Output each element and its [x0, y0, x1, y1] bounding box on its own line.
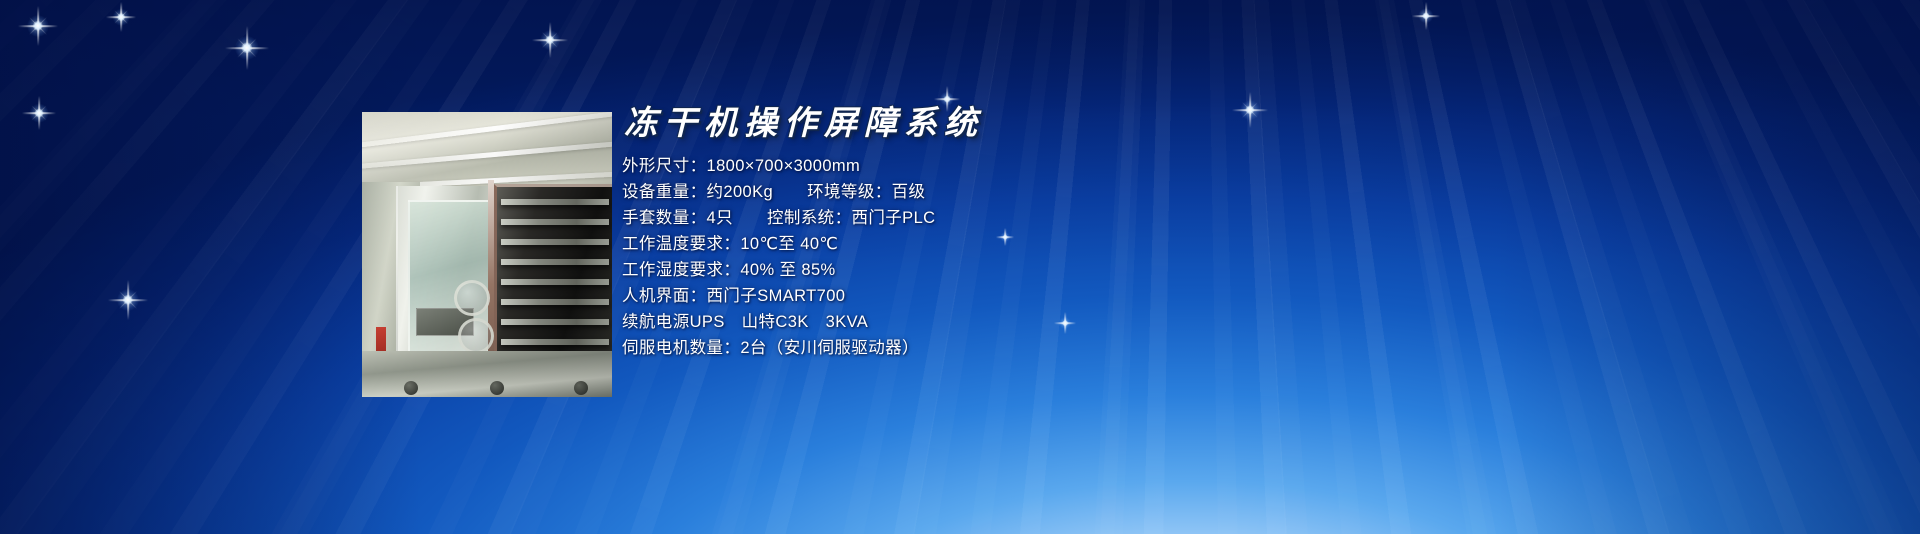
photo-shelf — [501, 299, 609, 305]
spec-row-dimensions: 外形尺寸：1800×700×3000mm — [622, 153, 1242, 179]
spec-value: 约200Kg — [707, 183, 774, 201]
photo-caster-wheel — [574, 381, 588, 395]
spec-row-gloves: 手套数量：4只控制系统：西门子PLC — [622, 205, 1242, 231]
spec-row-weight: 设备重量：约200Kg环境等级：百级 — [622, 179, 1242, 205]
spec-value: 山特C3K 3KVA — [725, 313, 868, 331]
photo-shelf — [501, 259, 609, 265]
spec-label: 工作湿度要求： — [622, 261, 740, 279]
photo-shelf — [501, 239, 609, 245]
photo-shelf — [501, 319, 609, 325]
photo-shelf — [501, 199, 609, 205]
spec-label: 人机界面： — [622, 287, 707, 305]
photo-glove-port — [458, 318, 494, 354]
spec-label: 手套数量： — [622, 209, 707, 227]
spec-label: 设备重量： — [622, 183, 707, 201]
spec-value-secondary: 百级 — [892, 183, 926, 201]
spec-row-temperature: 工作温度要求：10℃至 40℃ — [622, 231, 1242, 257]
spec-list: 外形尺寸：1800×700×3000mm 设备重量：约200Kg环境等级：百级 … — [622, 153, 1242, 361]
photo-shelf — [501, 279, 609, 285]
spec-value: 40% 至 85% — [740, 261, 835, 279]
product-photo — [362, 112, 612, 397]
photo-shelf — [501, 219, 609, 225]
spec-value: 4只 — [707, 209, 733, 227]
spec-row-hmi: 人机界面：西门子SMART700 — [622, 283, 1242, 309]
photo-glove-port — [454, 280, 490, 316]
spec-value: 1800×700×3000mm — [707, 157, 861, 175]
spec-label: 外形尺寸： — [622, 157, 707, 175]
spec-label-secondary: 控制系统： — [767, 209, 852, 227]
spec-value: 2台（安川伺服驱动器） — [740, 339, 919, 357]
spec-label: 伺服电机数量： — [622, 339, 740, 357]
photo-caster-wheel — [490, 381, 504, 395]
spec-value: 10℃至 40℃ — [740, 235, 838, 253]
spec-value-secondary: 西门子PLC — [851, 209, 935, 227]
spec-label: 续航电源UPS — [622, 313, 725, 331]
spec-label-secondary: 环境等级： — [807, 183, 892, 201]
spec-value: 西门子SMART700 — [707, 287, 846, 305]
spec-row-ups: 续航电源UPS 山特C3K 3KVA — [622, 309, 1242, 335]
spec-row-humidity: 工作湿度要求：40% 至 85% — [622, 257, 1242, 283]
spec-label: 工作温度要求： — [622, 235, 740, 253]
photo-shelf — [501, 339, 609, 345]
copy-block: 冻干机操作屏障系统 外形尺寸：1800×700×3000mm 设备重量：约200… — [622, 104, 1242, 361]
product-banner: 冻干机操作屏障系统 外形尺寸：1800×700×3000mm 设备重量：约200… — [0, 0, 1920, 534]
page-title: 冻干机操作屏障系统 — [624, 104, 1242, 143]
photo-caster-wheel — [404, 381, 418, 395]
spec-row-servo: 伺服电机数量：2台（安川伺服驱动器） — [622, 335, 1242, 361]
